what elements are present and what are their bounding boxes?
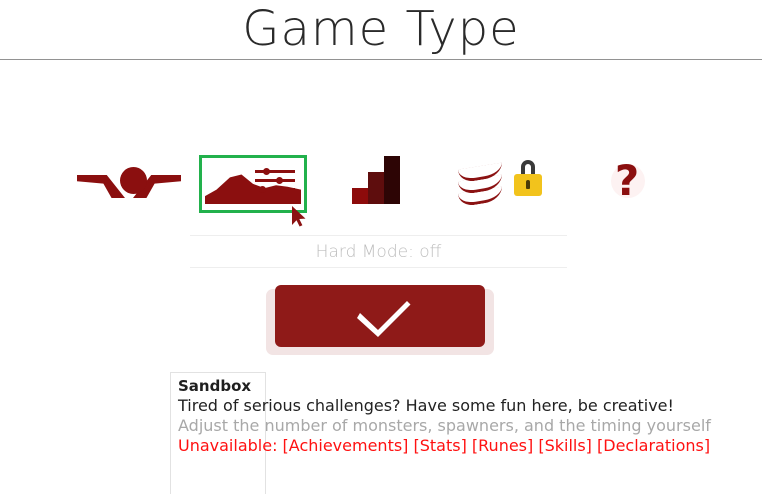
- sandbox-slider-knob-2-overlay: [276, 177, 283, 184]
- sandbox-slider-knob-1-overlay: [263, 168, 270, 175]
- figure-head: [120, 167, 147, 194]
- check-mark-icon: [275, 285, 485, 347]
- sandbox-slider-track-1-overlay: [255, 170, 295, 173]
- hard-mode-toggle[interactable]: Hard Mode: off: [190, 235, 567, 268]
- header-divider: [0, 59, 762, 60]
- mouse-cursor: [291, 205, 307, 227]
- waves-locked-icon: [446, 150, 554, 222]
- challenge-stairs-icon: [322, 150, 430, 222]
- question-glyph: ?: [573, 150, 681, 212]
- tooltip-subtext: Adjust the number of monsters, spawners,…: [178, 416, 758, 436]
- tooltip-title: Sandbox: [178, 376, 758, 396]
- stair-cell-4: [384, 188, 400, 204]
- game-type-icon-row: ?: [0, 150, 762, 222]
- stair-cell-3: [368, 172, 384, 188]
- stair-cell-2: [368, 188, 384, 204]
- tooltip-unavailable: Unavailable: [Achievements] [Stats] [Run…: [178, 436, 758, 456]
- stair-cell-1: [352, 188, 368, 204]
- sandbox-slider-track-2-overlay: [255, 179, 295, 182]
- confirm-button[interactable]: [275, 285, 485, 347]
- game-type-option-challenge[interactable]: [322, 150, 430, 222]
- lock-keyhole-icon: [526, 180, 530, 189]
- game-type-option-locked[interactable]: [446, 150, 554, 222]
- survival-figure-icon: [75, 150, 183, 222]
- sandbox-hills-overlay: [205, 168, 301, 204]
- tooltip-content: Sandbox Tired of serious challenges? Hav…: [178, 376, 758, 456]
- game-type-option-unknown[interactable]: ?: [573, 150, 681, 222]
- sandbox-slider-knob-3-overlay: [259, 186, 266, 193]
- figure-left-arm: [77, 174, 125, 198]
- stair-cell-5: [384, 172, 400, 188]
- hard-mode-label: Hard Mode: off: [190, 236, 567, 269]
- page-title: Game Type: [0, 0, 762, 60]
- game-type-option-survival[interactable]: [75, 150, 183, 222]
- question-mark-icon: ?: [573, 150, 681, 222]
- header: Game Type: [0, 0, 762, 60]
- tooltip-description: Tired of serious challenges? Have some f…: [178, 396, 758, 416]
- stair-cell-6: [384, 156, 400, 172]
